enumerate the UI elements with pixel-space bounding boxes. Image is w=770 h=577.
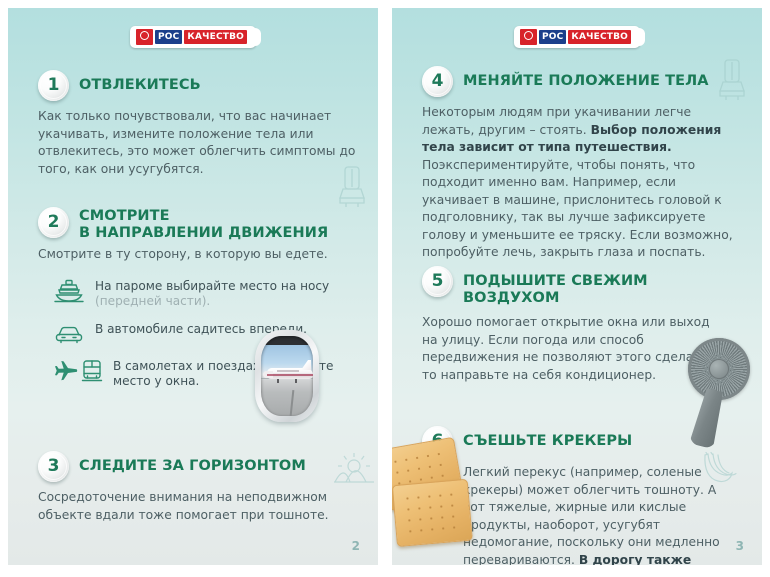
- cracker-bottom: [392, 479, 473, 547]
- block-2-header: 2 СМОТРИТЕ В НАПРАВЛЕНИИ ДВИЖЕНИЯ: [38, 207, 356, 242]
- list-item: На пароме выбирайте место на носу (перед…: [52, 278, 356, 310]
- step-number-3: 3: [38, 451, 69, 482]
- block-6-title: СЪЕШЬТЕ КРЕКЕРЫ: [463, 426, 632, 450]
- car-icon: [52, 321, 86, 347]
- block-6-body: Легкий перекус (например, соленые крекер…: [463, 464, 740, 565]
- block-3-title: СЛЕДИТЕ ЗА ГОРИЗОНТОМ: [79, 451, 306, 475]
- step-number-5: 5: [422, 266, 453, 297]
- page-number-right: 3: [736, 539, 744, 553]
- panel-right: РОС КАЧЕСТВО: [392, 8, 762, 565]
- block-1: 1 ОТВЛЕКИТЕСЬ Как только почувствовали, …: [38, 70, 356, 178]
- airplane-gear-rear: [295, 379, 297, 383]
- block-3-body: Сосредоточение внимания на неподвижном о…: [38, 489, 338, 524]
- logo-ros-text: РОС: [155, 30, 182, 44]
- airplane-window-photo: [255, 330, 319, 422]
- step-number-4: 4: [422, 66, 453, 97]
- tarmac-seam: [290, 390, 294, 416]
- block-1-body: Как только почувствовали, что вас начина…: [38, 108, 356, 178]
- airplane-windows: [277, 370, 299, 372]
- list-item-main: На пароме выбирайте место на носу: [95, 279, 329, 293]
- roskachestvo-logo: РОС КАЧЕСТВО: [130, 26, 256, 48]
- cracker-dots: [402, 488, 464, 537]
- window-pane: [261, 336, 313, 416]
- step-number-1: 1: [38, 70, 69, 101]
- block-3: 3 СЛЕДИТЕ ЗА ГОРИЗОНТОМ Сосредоточение в…: [38, 451, 356, 524]
- logo-kachestvo-text: КАЧЕСТВО: [184, 30, 247, 44]
- logo-container-left: РОС КАЧЕСТВО: [8, 26, 378, 48]
- fan-grill: [688, 338, 750, 400]
- block-4: 4 МЕНЯЙТЕ ПОЛОЖЕНИЕ ТЕЛА Некоторым людям…: [422, 66, 740, 262]
- airplane-train-icon: [52, 358, 104, 384]
- block-4-body: Некоторым людям при укачивании легче леж…: [422, 104, 740, 262]
- block-2-body: Смотрите в ту сторону, в которую вы едет…: [38, 246, 356, 264]
- block-2-title-line1: СМОТРИТЕ: [79, 208, 328, 225]
- block-1-title: ОТВЛЕКИТЕСЬ: [79, 70, 201, 94]
- list-item-muted: (передней части).: [95, 294, 210, 308]
- block-5-body: Хорошо помогает открытие окна или выход …: [422, 314, 712, 384]
- list-item-text: На пароме выбирайте место на носу (перед…: [95, 278, 329, 310]
- logo-circle-icon: [136, 29, 153, 45]
- logo-ros-text: РОС: [539, 30, 566, 44]
- roskachestvo-logo: РОС КАЧЕСТВО: [514, 26, 640, 48]
- block-1-header: 1 ОТВЛЕКИТЕСЬ: [38, 70, 356, 101]
- body-text-span: Хорошо помогает открытие окна или выход …: [422, 315, 712, 382]
- block-5-title: ПОДЫШИТЕ СВЕЖИМ ВОЗДУХОМ: [463, 266, 740, 307]
- body-text-span: Легкий перекус (например, соленые крекер…: [463, 465, 720, 565]
- crackers-photo: [392, 433, 482, 555]
- airplane-gear-front: [277, 379, 279, 383]
- ferry-ship-icon: [52, 278, 86, 304]
- body-text-span: Поэкспериментируйте, чтобы понять, что п…: [422, 158, 733, 260]
- logo-kachestvo-text: КАЧЕСТВО: [568, 30, 631, 44]
- block-4-header: 4 МЕНЯЙТЕ ПОЛОЖЕНИЕ ТЕЛА: [422, 66, 740, 97]
- infographic-sheet: РОС КАЧЕСТВО: [0, 0, 770, 577]
- block-3-header: 3 СЛЕДИТЕ ЗА ГОРИЗОНТОМ: [38, 451, 356, 482]
- block-4-title: МЕНЯЙТЕ ПОЛОЖЕНИЕ ТЕЛА: [463, 66, 709, 90]
- list-item-text: В самолетах и поездах выбирайте место у …: [113, 358, 356, 390]
- step-number-2: 2: [38, 207, 69, 238]
- block-2-title-line2: В НАПРАВЛЕНИИ ДВИЖЕНИЯ: [79, 225, 328, 242]
- airplane-tail: [301, 360, 311, 370]
- logo-container-right: РОС КАЧЕСТВО: [392, 26, 762, 48]
- airplane-stripe: [267, 374, 313, 376]
- block-2-title: СМОТРИТЕ В НАПРАВЛЕНИИ ДВИЖЕНИЯ: [79, 207, 328, 242]
- logo-circle-icon: [520, 29, 537, 45]
- page-number-left: 2: [352, 539, 360, 553]
- panel-left: РОС КАЧЕСТВО: [8, 8, 378, 565]
- block-5-header: 5 ПОДЫШИТЕ СВЕЖИМ ВОЗДУХОМ: [422, 266, 740, 307]
